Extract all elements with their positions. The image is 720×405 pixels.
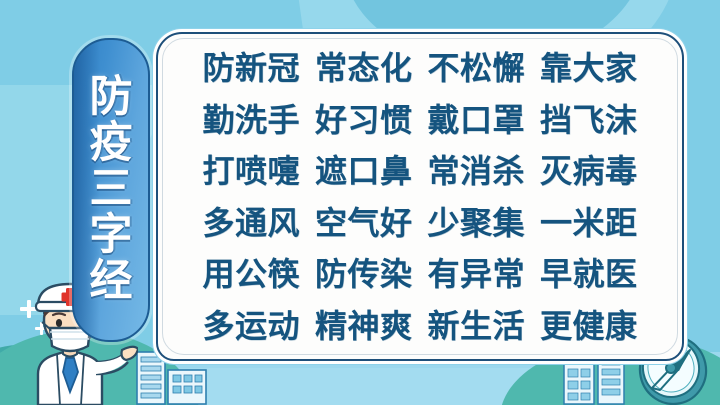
verse-phrase: 多通风 (202, 207, 300, 239)
verse-phrase: 不松懈 (428, 52, 526, 84)
vertical-title-banner: 防 疫 三 字 经 (72, 38, 150, 342)
verse-phrase: 打喷嚏 (202, 155, 300, 187)
verse-phrase: 精神爽 (315, 310, 413, 342)
verse-phrase: 空气好 (315, 207, 413, 239)
title-char: 疫 (90, 122, 133, 166)
verse-phrase: 戴口罩 (428, 104, 526, 136)
verse-row: 多通风 空气好 少聚集 一米距 (158, 207, 682, 239)
title-char: 三 (90, 168, 133, 212)
verse-phrase: 防传染 (315, 258, 413, 290)
title-char: 字 (90, 214, 133, 258)
verse-row: 多运动 精神爽 新生活 更健康 (158, 310, 682, 342)
verse-phrase: 用公筷 (202, 258, 300, 290)
verse-list: 防新冠 常态化 不松懈 靠大家 勤洗手 好习惯 戴口罩 挡飞沫 打喷嚏 遮口鼻 … (158, 48, 682, 348)
verse-phrase: 挡飞沫 (540, 104, 638, 136)
verse-row: 防新冠 常态化 不松懈 靠大家 (158, 52, 682, 84)
verse-phrase: 防新冠 (202, 52, 300, 84)
verse-phrase: 更健康 (540, 310, 638, 342)
poster-canvas: 防 疫 三 字 经 防新冠 常态化 不松懈 靠大家 勤洗手 好习惯 戴口罩 挡飞… (0, 0, 720, 405)
verse-phrase: 遮口鼻 (315, 155, 413, 187)
verse-phrase: 灭病毒 (540, 155, 638, 187)
verse-row: 勤洗手 好习惯 戴口罩 挡飞沫 (158, 104, 682, 136)
verse-phrase: 少聚集 (428, 207, 526, 239)
verse-phrase: 常态化 (315, 52, 413, 84)
verse-phrase: 新生活 (428, 310, 526, 342)
vertical-title-text: 防 疫 三 字 经 (74, 40, 148, 340)
verse-phrase: 多运动 (202, 310, 300, 342)
verse-phrase: 一米距 (540, 207, 638, 239)
verse-phrase: 好习惯 (315, 104, 413, 136)
verse-phrase: 靠大家 (540, 52, 638, 84)
title-char: 防 (90, 76, 133, 120)
verse-phrase: 有异常 (428, 258, 526, 290)
title-char: 经 (90, 260, 133, 304)
verse-row: 打喷嚏 遮口鼻 常消杀 灭病毒 (158, 155, 682, 187)
verse-phrase: 勤洗手 (202, 104, 300, 136)
verse-row: 用公筷 防传染 有异常 早就医 (158, 258, 682, 290)
verse-phrase: 常消杀 (428, 155, 526, 187)
verse-card: 防新冠 常态化 不松懈 靠大家 勤洗手 好习惯 戴口罩 挡飞沫 打喷嚏 遮口鼻 … (156, 32, 684, 361)
verse-phrase: 早就医 (540, 258, 638, 290)
